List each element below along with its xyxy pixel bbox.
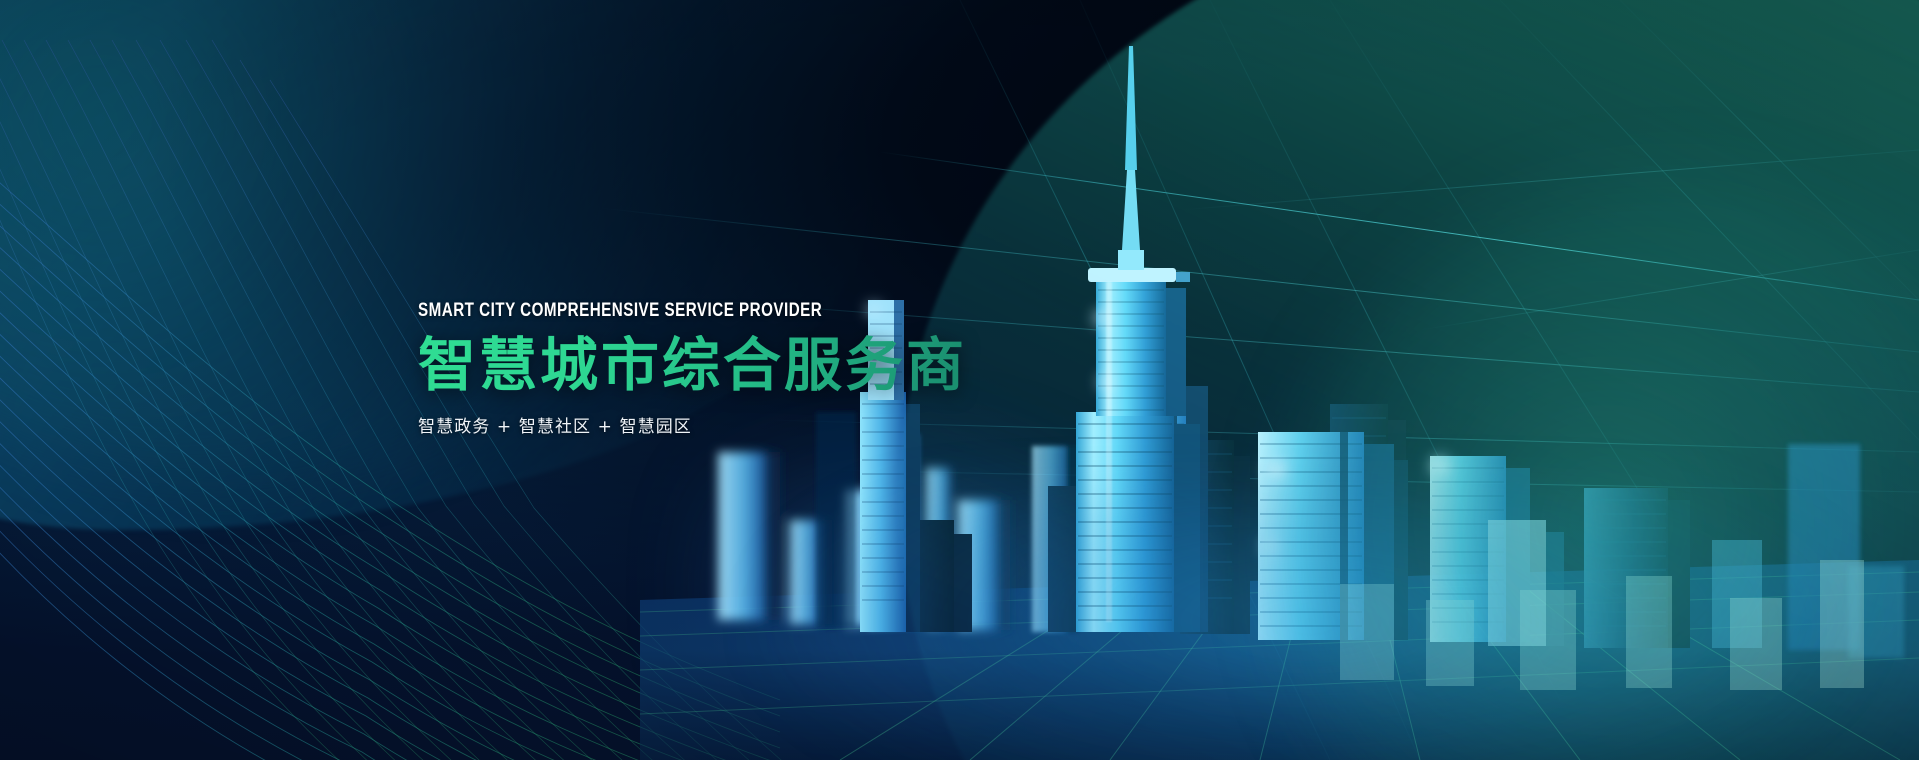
hero-copy-block: SMART CITY COMPREHENSIVE SERVICE PROVIDE… [418, 300, 1118, 437]
hero-headline: 智慧城市综合服务商 [418, 335, 1118, 396]
hero-subline: 智慧政务 + 智慧社区 + 智慧园区 [418, 412, 1118, 437]
hero-banner: SMART CITY COMPREHENSIVE SERVICE PROVIDE… [0, 0, 1919, 760]
hero-eyebrow: SMART CITY COMPREHENSIVE SERVICE PROVIDE… [418, 300, 978, 322]
